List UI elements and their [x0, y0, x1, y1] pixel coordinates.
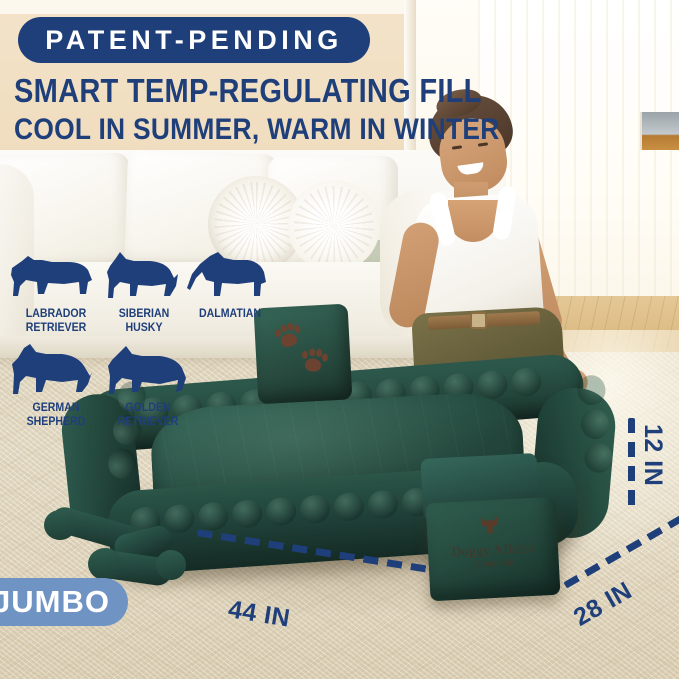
round-pillow: [288, 180, 380, 272]
dog-husky-icon: [104, 248, 180, 306]
breed-row-2: GERMAN SHEPHERD GOLDEN RETRIEVER: [8, 342, 276, 428]
breed-label-line2: SHEPHERD: [12, 416, 100, 428]
breed-label-line1: SIBERIAN: [107, 308, 181, 320]
dog-german-shepherd-icon: [8, 342, 96, 400]
patent-pending-label: PATENT-PENDING: [45, 25, 343, 56]
breed-label-line2: RETRIEVER: [12, 322, 100, 334]
breed-label-line1: DALMATIAN: [188, 308, 273, 320]
breed-golden-retriever: GOLDEN RETRIEVER: [104, 342, 192, 428]
tuft: [197, 501, 229, 531]
window-frame: [640, 112, 679, 150]
tuft: [583, 441, 614, 474]
size-badge-label: JUMBO: [0, 584, 110, 620]
dog-labrador-icon: [8, 248, 96, 306]
brand-pillow: Doggy Affairs Handmade: [426, 497, 561, 602]
tuft: [299, 494, 331, 524]
dog-dalmatian-icon: [184, 248, 270, 306]
product-marketing-image: Doggy Affairs Handmade 12 IN 44 IN 28 IN…: [0, 0, 679, 679]
bone-toy-knob: [88, 548, 122, 580]
bone-toy-knob: [156, 550, 186, 580]
breed-label-line1: GERMAN: [12, 402, 100, 414]
paw-print-icon: [299, 348, 327, 374]
bone-toy-knob: [44, 510, 76, 540]
breed-compatibility-list: LABRADOR RETRIEVER SIBERIAN HUSKY DALMAT…: [8, 248, 276, 428]
breed-dalmatian: DALMATIAN: [184, 248, 276, 334]
size-badge: JUMBO: [0, 578, 128, 626]
tuft: [265, 497, 297, 527]
tuft: [106, 447, 138, 481]
tuft: [367, 489, 399, 519]
dimension-line-height: [628, 418, 635, 510]
patent-pending-badge: PATENT-PENDING: [18, 17, 370, 63]
breed-label-line2: HUSKY: [107, 322, 181, 334]
breed-row-1: LABRADOR RETRIEVER SIBERIAN HUSKY DALMAT…: [8, 248, 276, 334]
belt-buckle: [470, 312, 487, 329]
paw-print-icon: [272, 322, 303, 352]
breed-label-line1: LABRADOR: [12, 308, 100, 320]
tuft: [510, 367, 542, 397]
dog-golden-retriever-icon: [104, 342, 190, 400]
tuft: [231, 499, 263, 529]
tuft: [333, 492, 365, 522]
breed-label-line1: GOLDEN: [108, 402, 189, 414]
breed-labrador-retriever: LABRADOR RETRIEVER: [8, 248, 104, 334]
headline-primary: SMART TEMP-REGULATING FILL: [14, 72, 482, 110]
tuft: [576, 374, 607, 407]
dog-head-logo-icon: [478, 514, 501, 537]
wall-trim: [0, 0, 420, 14]
breed-label-line2: RETRIEVER: [108, 416, 189, 428]
tuft: [580, 408, 611, 441]
tuft: [163, 504, 195, 534]
breed-siberian-husky: SIBERIAN HUSKY: [104, 248, 184, 334]
dimension-label-height: 12 IN: [638, 424, 667, 486]
breed-german-shepherd: GERMAN SHEPHERD: [8, 342, 104, 428]
headline-secondary: COOL IN SUMMER, WARM IN WINTER: [14, 113, 500, 147]
